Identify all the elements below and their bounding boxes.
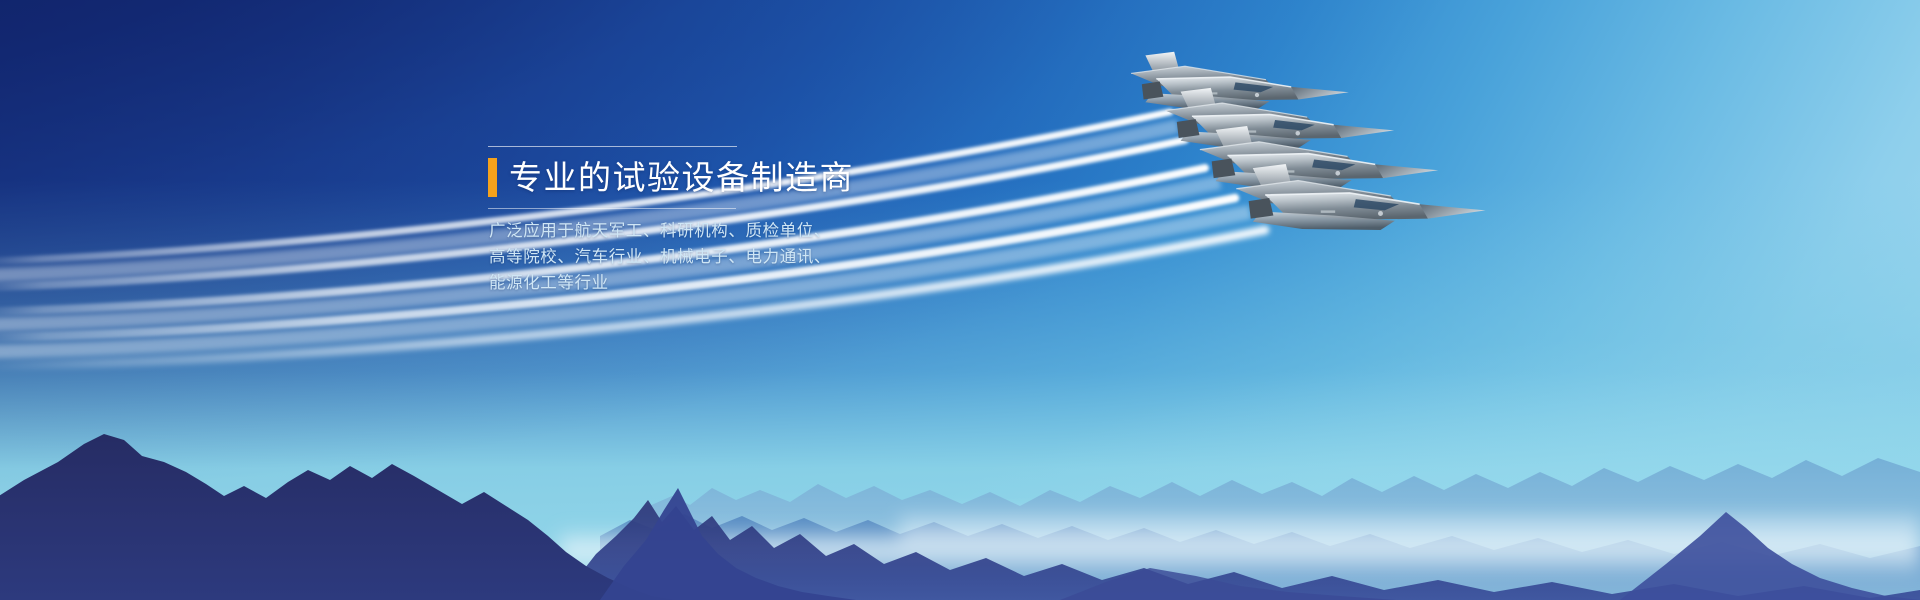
fighter-jet-formation (1118, 42, 1518, 272)
hero-subtitle: 广泛应用于航天军工、科研机构、质检单位、 高等院校、汽车行业、机械电子、电力通讯… (489, 218, 918, 296)
accent-bar (488, 158, 497, 197)
jet-4 (1131, 52, 1349, 110)
divider-bottom (488, 208, 736, 209)
mountain-range-silhouettes (0, 340, 1920, 600)
hero-banner: 专业的试验设备制造商 广泛应用于航天军工、科研机构、质检单位、 高等院校、汽车行… (0, 0, 1920, 600)
subtitle-line-2: 高等院校、汽车行业、机械电子、电力通讯、 (489, 244, 918, 270)
subtitle-line-1: 广泛应用于航天军工、科研机构、质检单位、 (489, 218, 918, 244)
headline-row: 专业的试验设备制造商 (488, 155, 918, 199)
page-title: 专业的试验设备制造商 (509, 158, 854, 197)
divider-top (488, 146, 737, 147)
subtitle-line-3: 能源化工等行业 (489, 270, 918, 296)
hero-copy-block: 专业的试验设备制造商 广泛应用于航天军工、科研机构、质检单位、 高等院校、汽车行… (488, 146, 918, 296)
